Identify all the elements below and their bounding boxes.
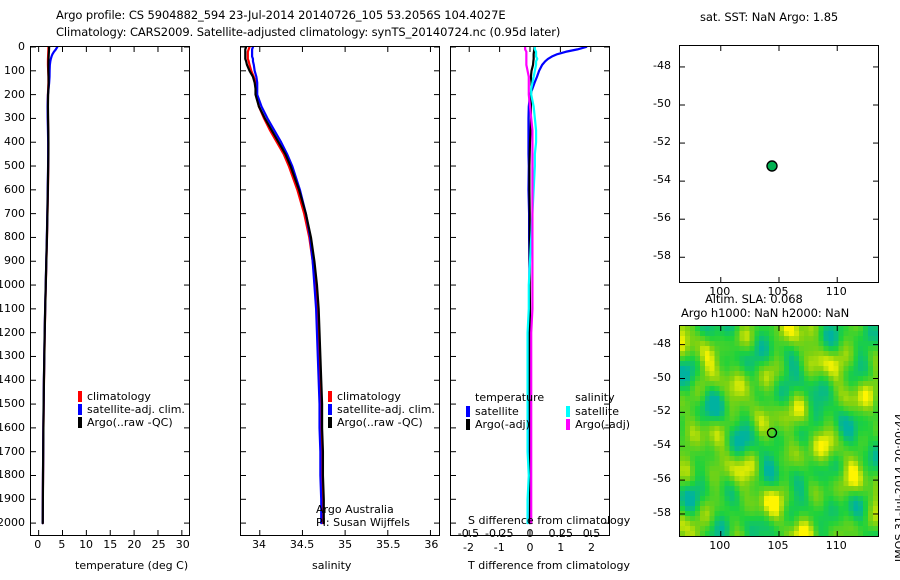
legend-color-swatch (78, 404, 82, 415)
temperature-x-ticks: 051015202530 (30, 538, 190, 554)
temperature-legend-item: satellite-adj. clim. (78, 403, 185, 416)
salinity-tick-label: 34.5 (290, 538, 315, 551)
salinity-legend-item: satellite-adj. clim. (328, 403, 435, 416)
depth-tick-label: 1900 (0, 492, 25, 505)
temperature-difference-tick-label: -2 (463, 541, 474, 554)
credit-block: Argo Australia PI: Susan Wijffels (316, 503, 410, 529)
panel-salinity (240, 46, 440, 536)
legend-color-swatch (328, 391, 332, 402)
depth-tick-label: 400 (4, 135, 25, 148)
difference-legend-item: Argo(-adj) (466, 418, 544, 431)
legend-color-swatch (566, 419, 570, 430)
imos-watermark-text: IMOS 31-Jul-2014 20:00:44 (893, 413, 900, 562)
temperature-tick-label: 5 (58, 538, 65, 551)
salinity-difference-tick-label: 0.5 (583, 527, 601, 540)
sst-map-y-ticks: -48-50-52-54-56-58 (645, 45, 675, 283)
difference-legend-item: Argo(-adj) (566, 418, 630, 431)
sst-map-lon-tick: 110 (826, 285, 847, 298)
depth-tick-label: 1300 (0, 349, 25, 362)
temperature-difference-axis-label: T difference from climatology (468, 559, 630, 572)
panel-difference (450, 46, 610, 536)
legend-color-swatch (328, 404, 332, 415)
depth-tick-label: 200 (4, 88, 25, 101)
legend-color-swatch (78, 417, 82, 428)
sst-map-lat-tick: -48 (653, 59, 671, 72)
salinity-legend-item: Argo(..raw -QC) (328, 416, 435, 429)
temperature-difference-tick-label: 1 (557, 541, 564, 554)
sla-map-lon-tick: 105 (768, 539, 789, 552)
temperature-difference-x-ticks: -2-1012 (450, 541, 610, 555)
temperature-tick-label: 15 (103, 538, 117, 551)
temperature-tick-label: 10 (79, 538, 93, 551)
sst-map-lat-tick: -50 (653, 97, 671, 110)
temperature-tick-label: 0 (34, 538, 41, 551)
salinity-axis-label: salinity (312, 559, 351, 572)
legend-difference-panel: temperaturesatelliteArgo(-adj)salinitysa… (466, 392, 630, 431)
salinity-difference-tick-label: -0.5 (458, 527, 479, 540)
legend-color-swatch (466, 419, 470, 430)
legend-color-swatch (566, 406, 570, 417)
sla-map-title-line2: Argo h1000: NaN h2000: NaN (681, 306, 849, 320)
depth-tick-label: 700 (4, 207, 25, 220)
panel-temperature (30, 46, 190, 536)
salinity-difference-tick-label: 0 (527, 527, 534, 540)
credit-line-1: Argo Australia (316, 503, 410, 516)
salinity-difference-tick-label: 0.25 (549, 527, 574, 540)
temperature-difference-tick-label: 2 (588, 541, 595, 554)
legend-label: Argo(..raw -QC) (87, 417, 173, 428)
legend-color-swatch (328, 417, 332, 428)
legend-temperature-panel: climatologysatellite-adj. clim.Argo(..ra… (78, 390, 185, 429)
salinity-profile-plot (241, 47, 439, 535)
depth-tick-label: 800 (4, 230, 25, 243)
legend-label: satellite (475, 406, 519, 417)
legend-salinity-panel: climatologysatellite-adj. clim.Argo(..ra… (328, 390, 435, 429)
salinity-tick-label: 34 (252, 538, 266, 551)
legend-label: climatology (337, 391, 401, 402)
sla-map-lat-tick: -48 (653, 337, 671, 350)
temperature-legend-item: climatology (78, 390, 185, 403)
figure-title-line2: Climatology: CARS2009. Satellite-adjuste… (56, 25, 560, 39)
legend-label: satellite-adj. clim. (87, 404, 185, 415)
legend-label: Argo(-adj) (575, 419, 630, 430)
depth-tick-label: 1700 (0, 445, 25, 458)
sla-map-title-line1: Altim. SLA: 0.068 (705, 292, 803, 306)
legend-group-header: salinity (575, 392, 630, 405)
sla-map-lon-tick: 110 (826, 539, 847, 552)
depth-axis-ticks-left: 0100200300400500600700800900100011001200… (0, 46, 28, 536)
depth-tick-label: 2000 (0, 516, 25, 529)
depth-tick-label: 1600 (0, 421, 25, 434)
depth-tick-label: 500 (4, 159, 25, 172)
sla-map-x-ticks: 100105110 (679, 539, 879, 553)
salinity-legend-item: climatology (328, 390, 435, 403)
salinity-tick-label: 36 (424, 538, 438, 551)
sla-map-lon-tick: 100 (709, 539, 730, 552)
temperature-tick-label: 25 (152, 538, 166, 551)
salinity-x-ticks: 3434.53535.536 (240, 538, 440, 554)
sst-map-lat-tick: -54 (653, 173, 671, 186)
legend-color-swatch (466, 406, 470, 417)
legend-label: satellite (575, 406, 619, 417)
depth-tick-label: 1800 (0, 468, 25, 481)
depth-tick-label: 1500 (0, 397, 25, 410)
depth-tick-label: 300 (4, 111, 25, 124)
depth-tick-label: 900 (4, 254, 25, 267)
panel-map-sst (679, 45, 879, 283)
temperature-tick-label: 20 (127, 538, 141, 551)
depth-tick-label: 1200 (0, 326, 25, 339)
legend-label: climatology (87, 391, 151, 402)
temperature-profile-plot (31, 47, 189, 535)
credit-line-2: PI: Susan Wijffels (316, 516, 410, 529)
difference-legend-item: satellite (566, 405, 630, 418)
depth-tick-label: 1100 (0, 302, 25, 315)
depth-tick-label: 100 (4, 64, 25, 77)
argo-position-marker (767, 161, 777, 171)
salinity-tick-label: 35.5 (376, 538, 401, 551)
salinity-difference-tick-label: -0.25 (485, 527, 513, 540)
depth-tick-label: 0 (18, 40, 25, 53)
sla-map-plot (680, 326, 878, 536)
sla-map-lat-tick: -50 (653, 371, 671, 384)
salinity-difference-axis-label: S difference from climatology (468, 514, 630, 527)
temperature-axis-label: temperature (deg C) (75, 559, 188, 572)
sla-map-lat-tick: -56 (653, 472, 671, 485)
sla-map-lat-tick: -54 (653, 438, 671, 451)
sla-map-lat-tick: -58 (653, 506, 671, 519)
imos-watermark: IMOS 31-Jul-2014 20:00:44 (893, 562, 900, 575)
legend-label: satellite-adj. clim. (337, 404, 435, 415)
sst-map-title: sat. SST: NaN Argo: 1.85 (700, 10, 838, 24)
panel-map-sla (679, 325, 879, 537)
legend-group-header: temperature (475, 392, 544, 405)
depth-tick-label: 600 (4, 183, 25, 196)
depth-tick-label: 1000 (0, 278, 25, 291)
temperature-legend-item: Argo(..raw -QC) (78, 416, 185, 429)
sst-map-plot (680, 46, 878, 282)
sla-map-y-ticks: -48-50-52-54-56-58 (645, 325, 675, 537)
sla-map-lat-tick: -52 (653, 404, 671, 417)
salinity-tick-label: 35 (338, 538, 352, 551)
difference-legend-item: satellite (466, 405, 544, 418)
sst-map-lat-tick: -58 (653, 249, 671, 262)
temperature-difference-tick-label: -1 (494, 541, 505, 554)
difference-legend-group: salinitysatelliteArgo(-adj) (566, 392, 630, 431)
difference-profile-plot (451, 47, 609, 535)
depth-tick-label: 1400 (0, 373, 25, 386)
difference-legend-group: temperaturesatelliteArgo(-adj) (466, 392, 544, 431)
legend-label: Argo(..raw -QC) (337, 417, 423, 428)
temperature-tick-label: 30 (176, 538, 190, 551)
legend-label: Argo(-adj) (475, 419, 530, 430)
salinity-difference-x-ticks: -0.5-0.2500.250.5 (450, 527, 610, 541)
sst-map-lat-tick: -56 (653, 211, 671, 224)
temperature-difference-tick-label: 0 (527, 541, 534, 554)
legend-color-swatch (78, 391, 82, 402)
figure-title-line1: Argo profile: CS 5904882_594 23-Jul-2014… (56, 8, 506, 22)
sst-map-lat-tick: -52 (653, 135, 671, 148)
